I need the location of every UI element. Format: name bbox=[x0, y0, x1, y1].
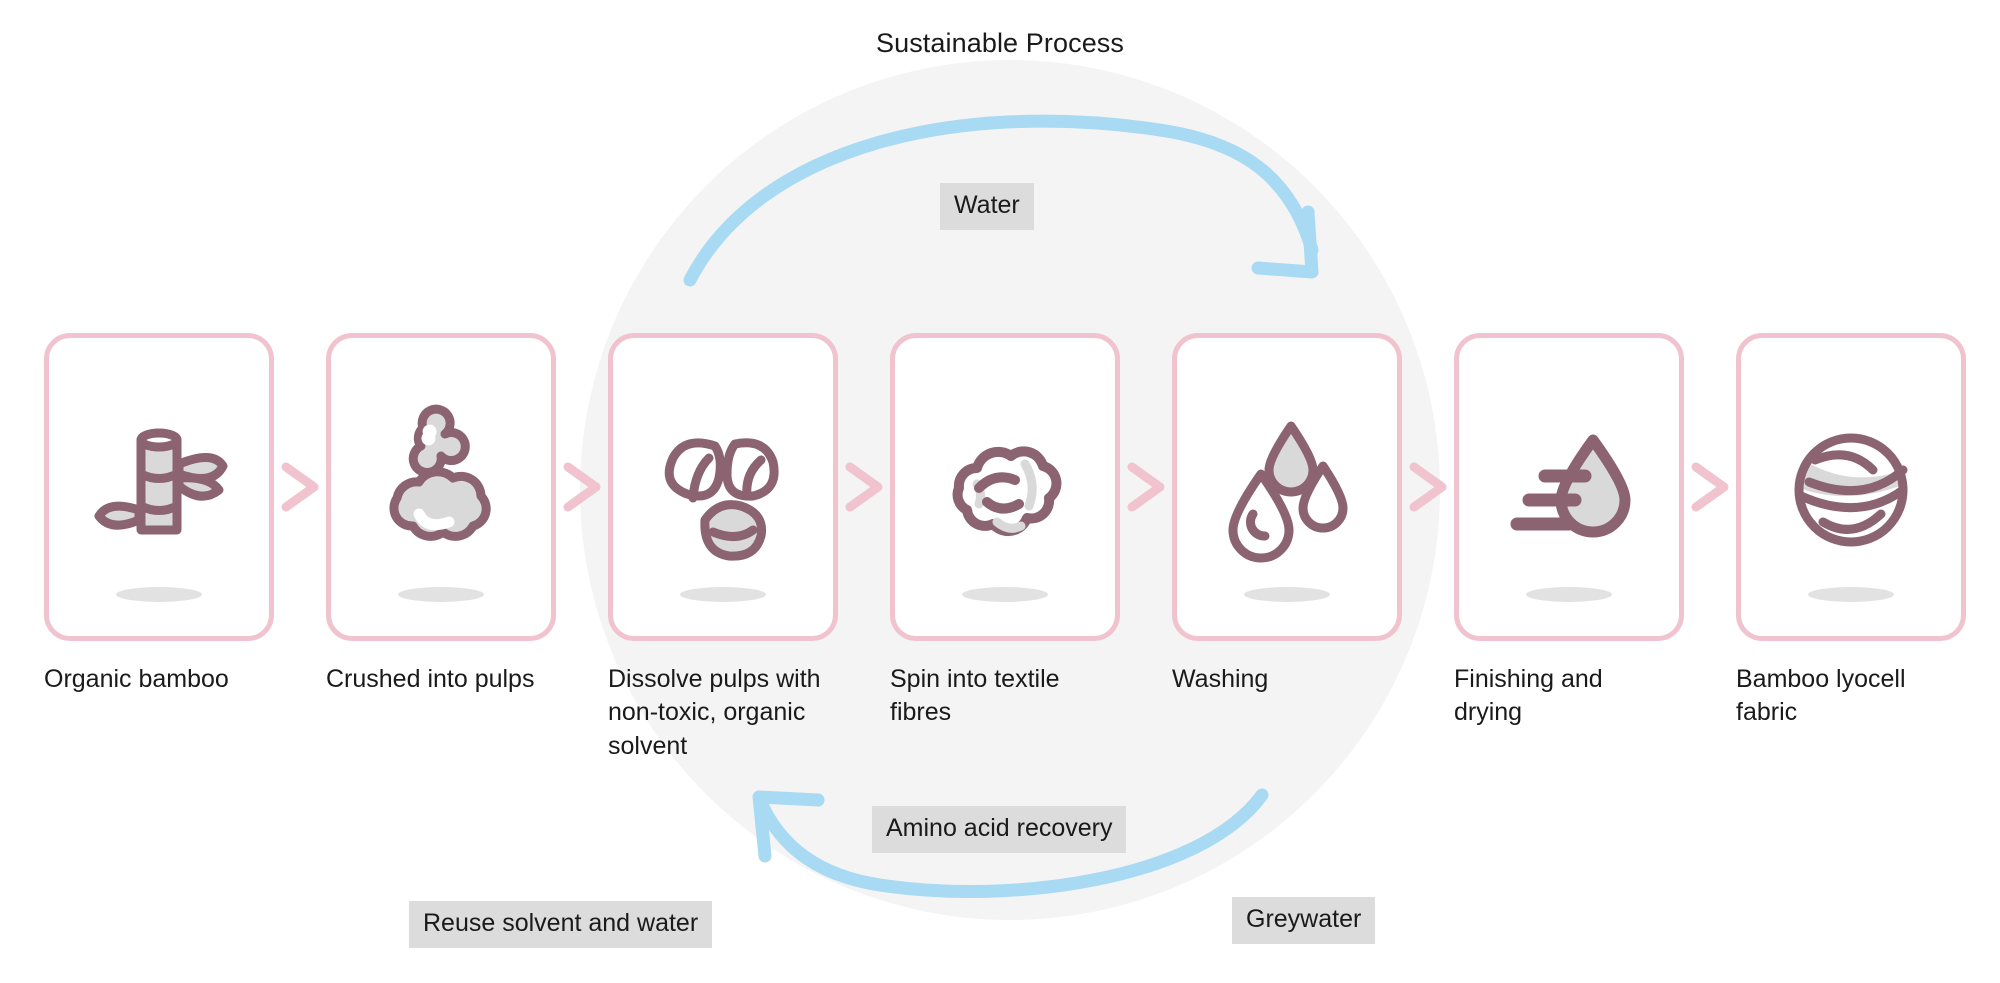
diagram-canvas: Sustainable Process Water Amino acid rec… bbox=[0, 0, 2000, 983]
step-spin-fibres[interactable]: Spin into textile fibres bbox=[890, 333, 1120, 730]
step-dissolve-pulps[interactable]: Dissolve pulps with non-toxic, organic s… bbox=[608, 333, 838, 763]
step-organic-bamboo[interactable]: Organic bamboo bbox=[44, 333, 274, 696]
step-card[interactable] bbox=[1736, 333, 1966, 641]
chip-reuse: Reuse solvent and water bbox=[409, 901, 712, 948]
bamboo-icon bbox=[79, 402, 239, 572]
icon-shadow bbox=[1526, 587, 1612, 602]
connector-3 bbox=[838, 333, 890, 641]
step-label: Organic bamboo bbox=[44, 663, 274, 696]
chip-greywater: Greywater bbox=[1232, 897, 1375, 944]
icon-shadow bbox=[398, 587, 484, 602]
chip-amino-acid: Amino acid recovery bbox=[872, 806, 1126, 853]
step-label: Finishing and drying bbox=[1454, 663, 1684, 730]
process-steps: Organic bamboo bbox=[44, 333, 1962, 763]
chevron-right-icon bbox=[1684, 457, 1736, 517]
step-crushed-pulps[interactable]: Crushed into pulps bbox=[326, 333, 556, 696]
step-card[interactable] bbox=[608, 333, 838, 641]
step-label: Washing bbox=[1172, 663, 1402, 696]
pulp-cloud-icon bbox=[361, 402, 521, 572]
leaves-solvent-icon bbox=[643, 402, 803, 572]
icon-shadow bbox=[962, 587, 1048, 602]
step-label: Bamboo lyocell fabric bbox=[1736, 663, 1966, 730]
connector-6 bbox=[1684, 333, 1736, 641]
step-label: Spin into textile fibres bbox=[890, 663, 1120, 730]
icon-shadow bbox=[1808, 587, 1894, 602]
step-lyocell-fabric[interactable]: Bamboo lyocell fabric bbox=[1736, 333, 1966, 730]
step-card[interactable] bbox=[890, 333, 1120, 641]
water-droplets-icon bbox=[1207, 402, 1367, 572]
connector-4 bbox=[1120, 333, 1172, 641]
icon-shadow bbox=[680, 587, 766, 602]
step-washing[interactable]: Washing bbox=[1172, 333, 1402, 696]
chevron-right-icon bbox=[1402, 457, 1454, 517]
connector-5 bbox=[1402, 333, 1454, 641]
yarn-ball-icon bbox=[1771, 402, 1931, 572]
step-finishing-drying[interactable]: Finishing and drying bbox=[1454, 333, 1684, 730]
step-card[interactable] bbox=[326, 333, 556, 641]
icon-shadow bbox=[116, 587, 202, 602]
chevron-right-icon bbox=[274, 457, 326, 517]
chevron-right-icon bbox=[1120, 457, 1172, 517]
page-title: Sustainable Process bbox=[0, 28, 2000, 59]
fibre-cloud-icon bbox=[925, 402, 1085, 572]
step-label: Dissolve pulps with non-toxic, organic s… bbox=[608, 663, 838, 763]
step-card[interactable] bbox=[1454, 333, 1684, 641]
step-label: Crushed into pulps bbox=[326, 663, 556, 696]
connector-2 bbox=[556, 333, 608, 641]
icon-shadow bbox=[1244, 587, 1330, 602]
chevron-right-icon bbox=[556, 457, 608, 517]
step-card[interactable] bbox=[1172, 333, 1402, 641]
chevron-right-icon bbox=[838, 457, 890, 517]
step-card[interactable] bbox=[44, 333, 274, 641]
chip-water: Water bbox=[940, 183, 1034, 230]
drying-droplet-icon bbox=[1489, 402, 1649, 572]
connector-1 bbox=[274, 333, 326, 641]
